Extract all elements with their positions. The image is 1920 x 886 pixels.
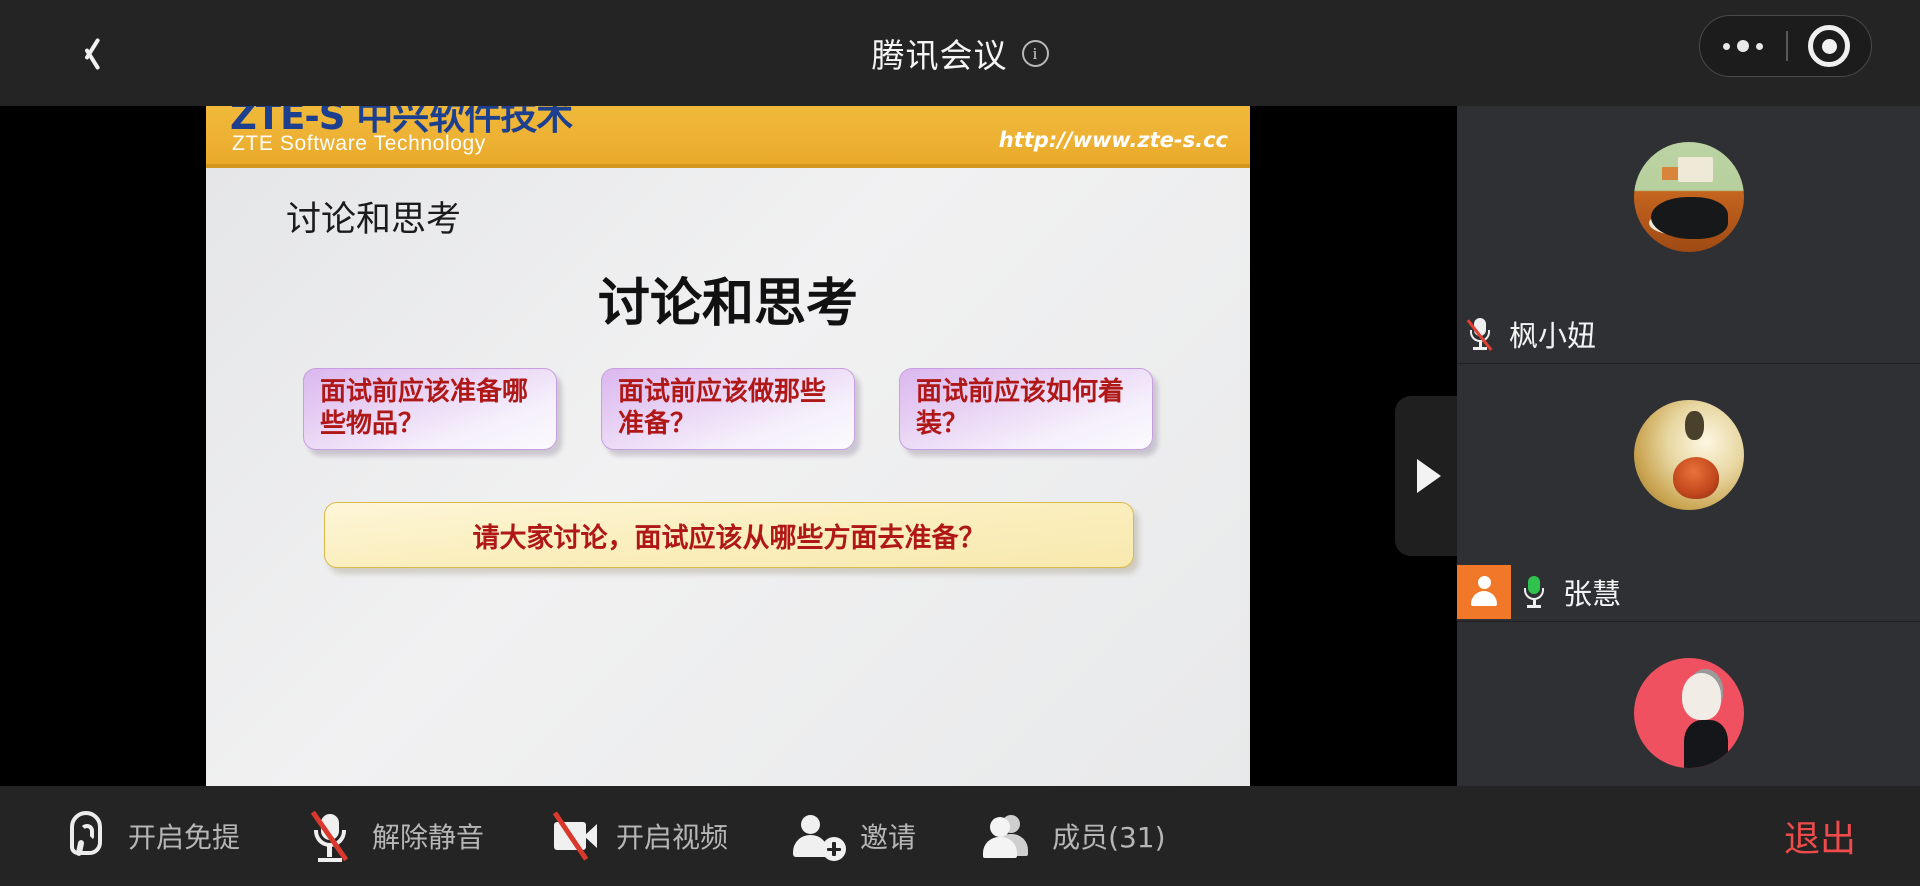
- toolbar-item-label: 成员(31): [1052, 816, 1165, 856]
- question-box: 面试前应该准备哪些物品？: [303, 368, 557, 450]
- info-circle-icon[interactable]: i: [1022, 40, 1049, 67]
- question-box-text: 面试前应该如何着装？: [916, 377, 1136, 440]
- dot: [1723, 43, 1730, 50]
- mic-glyph: [1470, 318, 1490, 350]
- dot: [1756, 43, 1763, 50]
- slide-main-title: 讨论和思考: [206, 261, 1250, 336]
- avatar: [1634, 658, 1744, 768]
- person-glyph: [1470, 576, 1498, 608]
- question-box: 面试前应该做那些准备？: [601, 368, 855, 450]
- avatar: [1634, 142, 1744, 252]
- toolbar-item-label: 开启视频: [616, 816, 728, 856]
- header-center: 腾讯会议 i: [0, 0, 1920, 106]
- more-dots-icon[interactable]: [1700, 16, 1786, 76]
- video-off-icon: [546, 808, 602, 864]
- person-add-icon: [790, 808, 846, 864]
- toolbar-item-speaker[interactable]: 开启免提: [58, 786, 240, 886]
- question-box-row: 面试前应该准备哪些物品？ 面试前应该做那些准备？ 面试前应该如何着装？: [206, 368, 1250, 450]
- mic-off-icon: [1457, 318, 1503, 350]
- participant-tile[interactable]: 张慧: [1457, 364, 1920, 622]
- participant-panel-toggle[interactable]: [1395, 396, 1457, 556]
- zte-logo-subtitle: ZTE Software Technology: [232, 132, 486, 156]
- question-box-text: 面试前应该做那些准备？: [618, 377, 838, 440]
- avatar: [1634, 400, 1744, 510]
- toolbar-item-label: 解除静音: [372, 816, 484, 856]
- participant-footer: 张慧: [1457, 563, 1920, 621]
- participant-name: 张慧: [1563, 571, 1621, 613]
- toolbar-item-members[interactable]: 成员(31): [982, 786, 1165, 886]
- mic-on-icon: [1511, 576, 1557, 608]
- toolbar-item-unmute[interactable]: 解除静音: [302, 786, 484, 886]
- question-box-text: 面试前应该准备哪些物品？: [320, 377, 540, 440]
- participant-tile[interactable]: 枫小妞: [1457, 106, 1920, 364]
- exit-meeting-button[interactable]: 退出: [1784, 786, 1856, 886]
- participant-sidebar[interactable]: 枫小妞 张慧: [1457, 106, 1920, 786]
- members-icon: [982, 808, 1038, 864]
- exit-label: 退出: [1784, 810, 1856, 862]
- slide-section-header: 讨论和思考: [286, 191, 461, 242]
- participant-name: 枫小妞: [1509, 313, 1596, 355]
- ear-icon: [58, 808, 114, 864]
- slide-banner: ZTE-S 中兴软件技术 ZTE Software Technology htt…: [206, 106, 1250, 168]
- target-center: [1822, 39, 1837, 54]
- toolbar-item-invite[interactable]: 邀请: [790, 786, 916, 886]
- host-person-icon: [1457, 565, 1511, 619]
- meeting-app-window: 腾讯会议 i ZTE-S 中兴软件技术 ZTE Software Technol…: [0, 0, 1920, 886]
- meeting-toolbar: 开启免提 解除静音 开启视频 邀请 成员(31): [0, 786, 1920, 886]
- discussion-prompt-box: 请大家讨论，面试应该从哪些方面去准备？: [324, 502, 1134, 568]
- triangle-right-icon: [1417, 459, 1441, 493]
- page-title: 腾讯会议: [872, 29, 1008, 77]
- participant-footer: 枫小妞: [1457, 305, 1920, 363]
- toolbar-item-label: 开启免提: [128, 816, 240, 856]
- target-ring: [1808, 25, 1850, 67]
- toolbar-item-label: 邀请: [860, 816, 916, 856]
- app-header: 腾讯会议 i: [0, 0, 1920, 106]
- dot: [1737, 40, 1749, 52]
- wechat-capsule: [1699, 15, 1872, 77]
- participant-tile[interactable]: [1457, 622, 1920, 786]
- toolbar-item-video[interactable]: 开启视频: [546, 786, 728, 886]
- mic-off-icon: [302, 808, 358, 864]
- question-box: 面试前应该如何着装？: [899, 368, 1153, 450]
- mic-glyph: [1524, 576, 1544, 608]
- company-url: http://www.zte-s.cc: [999, 128, 1228, 152]
- discussion-prompt-text: 请大家讨论，面试应该从哪些方面去准备？: [473, 516, 986, 555]
- shared-screen-stage[interactable]: ZTE-S 中兴软件技术 ZTE Software Technology htt…: [0, 106, 1457, 786]
- presentation-slide: ZTE-S 中兴软件技术 ZTE Software Technology htt…: [206, 106, 1250, 786]
- target-circle-icon[interactable]: [1788, 25, 1872, 67]
